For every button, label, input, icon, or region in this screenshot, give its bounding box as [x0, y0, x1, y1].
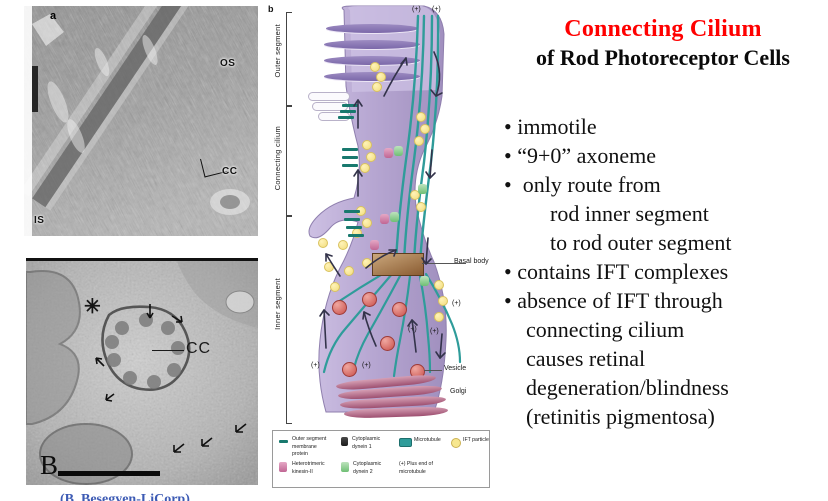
- kinesin-ii-motor: [384, 148, 393, 158]
- ift-particle: [362, 218, 372, 228]
- kinesin-ii-motor: [370, 240, 379, 250]
- membrane-protein: [344, 210, 360, 213]
- panel-b-top-rule: [26, 258, 258, 261]
- bullet-item: • contains IFT complexes: [504, 257, 828, 286]
- heterotrimeric-kinesin-icon: [279, 462, 287, 472]
- bullet-list: • immotile • “9+0” axoneme • only route …: [504, 112, 828, 431]
- bullet-subitem: degeneration/blindness: [504, 373, 828, 402]
- microtubule-icon: [399, 438, 412, 447]
- bullet-item: • only route from: [504, 170, 828, 199]
- ift-particle: [360, 163, 370, 173]
- ift-particle: [438, 296, 448, 306]
- membrane-protein-icon: [279, 440, 288, 443]
- panel-a-label-cc: CC: [222, 166, 237, 177]
- plus-end-marker: (+): [452, 300, 461, 307]
- ift-particle: [344, 266, 354, 276]
- bullet-subitem: to rod outer segment: [504, 228, 828, 257]
- cytoplasmic-dynein-motor: [420, 276, 429, 286]
- panel-b-label-cc: CC: [186, 340, 211, 358]
- kinesin-ii-motor: [380, 214, 389, 224]
- vesicle: [392, 302, 407, 317]
- membrane-protein: [338, 116, 354, 119]
- bullet-subitem: connecting cilium: [504, 315, 828, 344]
- bullet-item: • immotile: [504, 112, 828, 141]
- slide-canvas: a OS CC IS: [0, 0, 828, 501]
- text-column: Connecting Cilium of Rod Photoreceptor C…: [498, 0, 828, 501]
- ift-particle: [362, 258, 372, 268]
- panel-a-image: [24, 6, 258, 236]
- ift-particle: [434, 280, 444, 290]
- panel-b-letter: B: [40, 450, 59, 481]
- panel-b-cut-caption: (B, Besegyen-LiCorp): [60, 492, 245, 501]
- membrane-protein: [342, 156, 358, 159]
- plus-end-marker: (+): [311, 362, 320, 369]
- basal-body: [372, 253, 424, 276]
- panel-a-letter: a: [50, 10, 57, 22]
- plus-end-marker: (+): [432, 6, 441, 13]
- panel-a-label-is: IS: [34, 215, 44, 226]
- page-title-black: of Rod Photoreceptor Cells: [498, 45, 828, 71]
- plus-end-marker: (+): [362, 362, 371, 369]
- panel-a-label-os: OS: [220, 58, 235, 69]
- page-title-red: Connecting Cilium: [498, 16, 828, 43]
- ift-particle: [434, 312, 444, 322]
- vesicle: [332, 300, 347, 315]
- cytoplasmic-dynein-motor: [390, 212, 399, 222]
- diagram-legend: Outer segment membrane protein Cytoplasm…: [272, 430, 490, 488]
- membrane-protein: [340, 110, 356, 113]
- ift-particle: [338, 240, 348, 250]
- micrograph-panel-a: a OS CC IS: [24, 6, 258, 236]
- legend-label-dynein-1: Cytoplasmic dynein 1: [352, 436, 380, 451]
- vesicle: [342, 362, 357, 377]
- legend-label-kinesin: Heterotrimeric kinesin-II: [292, 461, 325, 476]
- cytoplasmic-dynein-motor: [418, 184, 427, 194]
- micrograph-panel-b: ✳ CC B: [26, 258, 258, 485]
- membrane-protein: [344, 218, 360, 221]
- ift-particle: [372, 82, 382, 92]
- vesicle-leader: [424, 370, 442, 371]
- ift-particle: [370, 62, 380, 72]
- plus-end-marker: (+): [408, 326, 417, 333]
- callout-vesicle: Vesicle: [444, 365, 466, 372]
- legend-label-plus-end: (+) Plus end of microtubule: [399, 461, 433, 476]
- panel-b-scale-bar: [58, 471, 160, 476]
- bullet-subitem: causes retinal: [504, 344, 828, 373]
- legend-label-dynein-2: Cytoplasmic dynein 2: [353, 461, 381, 476]
- ift-particle: [362, 140, 372, 150]
- plus-end-marker: (+): [430, 328, 439, 335]
- diagram-panel-b: b Outer segment Connecting cilium Inner …: [266, 0, 494, 501]
- vesicle: [380, 336, 395, 351]
- ift-particle: [318, 238, 328, 248]
- callout-basal-body: Basal body: [454, 258, 489, 265]
- ift-particle: [420, 124, 430, 134]
- ift-particle: [324, 262, 334, 272]
- legend-label-microtubule: Microtubule: [414, 437, 441, 445]
- membrane-protein: [346, 226, 362, 229]
- ift-particle: [414, 136, 424, 146]
- bullet-item: • absence of IFT through: [504, 286, 828, 315]
- ift-particle-icon: [451, 438, 461, 448]
- membrane-protein: [342, 164, 358, 167]
- ift-particle: [376, 72, 386, 82]
- ift-particle: [416, 112, 426, 122]
- legend-label-ift-particle: IFT particle: [463, 437, 489, 445]
- plus-end-marker: (+): [412, 6, 421, 13]
- ift-particle: [330, 282, 340, 292]
- bullet-subitem: rod inner segment: [504, 199, 828, 228]
- membrane-protein: [348, 234, 364, 237]
- panel-b-leader-line: [152, 350, 184, 351]
- cytoplasmic-dynein-motor: [394, 146, 403, 156]
- membrane-protein: [342, 148, 358, 151]
- membrane-protein: [342, 104, 358, 107]
- bullet-subitem: (retinitis pigmentosa): [504, 402, 828, 431]
- bullet-item: • “9+0” axoneme: [504, 141, 828, 170]
- ift-particle: [366, 152, 376, 162]
- cytoplasmic-dynein-1-icon: [341, 437, 348, 446]
- panel-b-image: [26, 258, 258, 485]
- panel-b-asterisk: ✳: [84, 294, 101, 319]
- vesicle: [362, 292, 377, 307]
- cytoplasmic-dynein-2-icon: [341, 462, 349, 472]
- callout-golgi: Golgi: [450, 388, 466, 395]
- legend-label-membrane-protein: Outer segment membrane protein: [292, 436, 326, 459]
- ift-particle: [416, 202, 426, 212]
